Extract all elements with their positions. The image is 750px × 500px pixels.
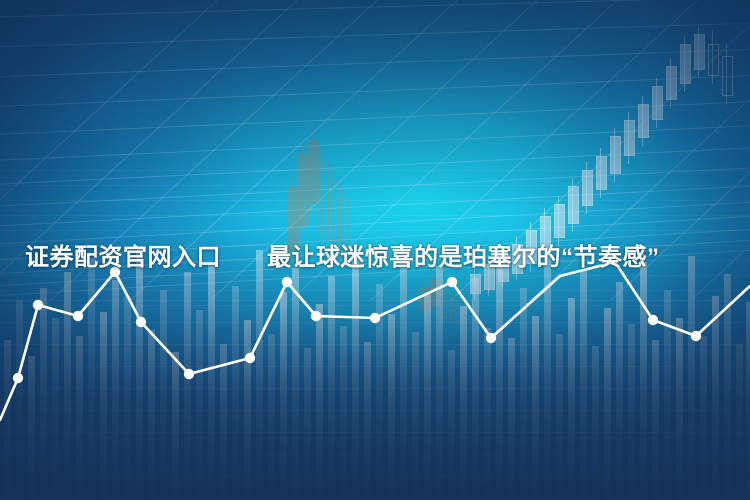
line-marker [184,369,194,379]
line-marker [447,277,457,287]
headline-part-1: 证券配资官网入口 [25,237,221,272]
line-marker [136,317,146,327]
banner-image: 证券配资官网入口 最让球迷惊喜的是珀塞尔的“节奏感” [0,0,750,500]
headline-part-2: 最让球迷惊喜的是珀塞尔的“节奏感” [267,237,660,272]
line-marker [648,315,658,325]
headline-text: 证券配资官网入口 最让球迷惊喜的是珀塞尔的“节奏感” [0,232,750,276]
line-marker [691,331,701,341]
line-marker [282,277,292,287]
line-marker [73,311,83,321]
line-marker [13,373,23,383]
line-marker [486,333,496,343]
line-marker [311,311,321,321]
line-marker [33,300,43,310]
line-marker [245,353,255,363]
line-path [0,262,750,420]
line-marker [370,313,380,323]
